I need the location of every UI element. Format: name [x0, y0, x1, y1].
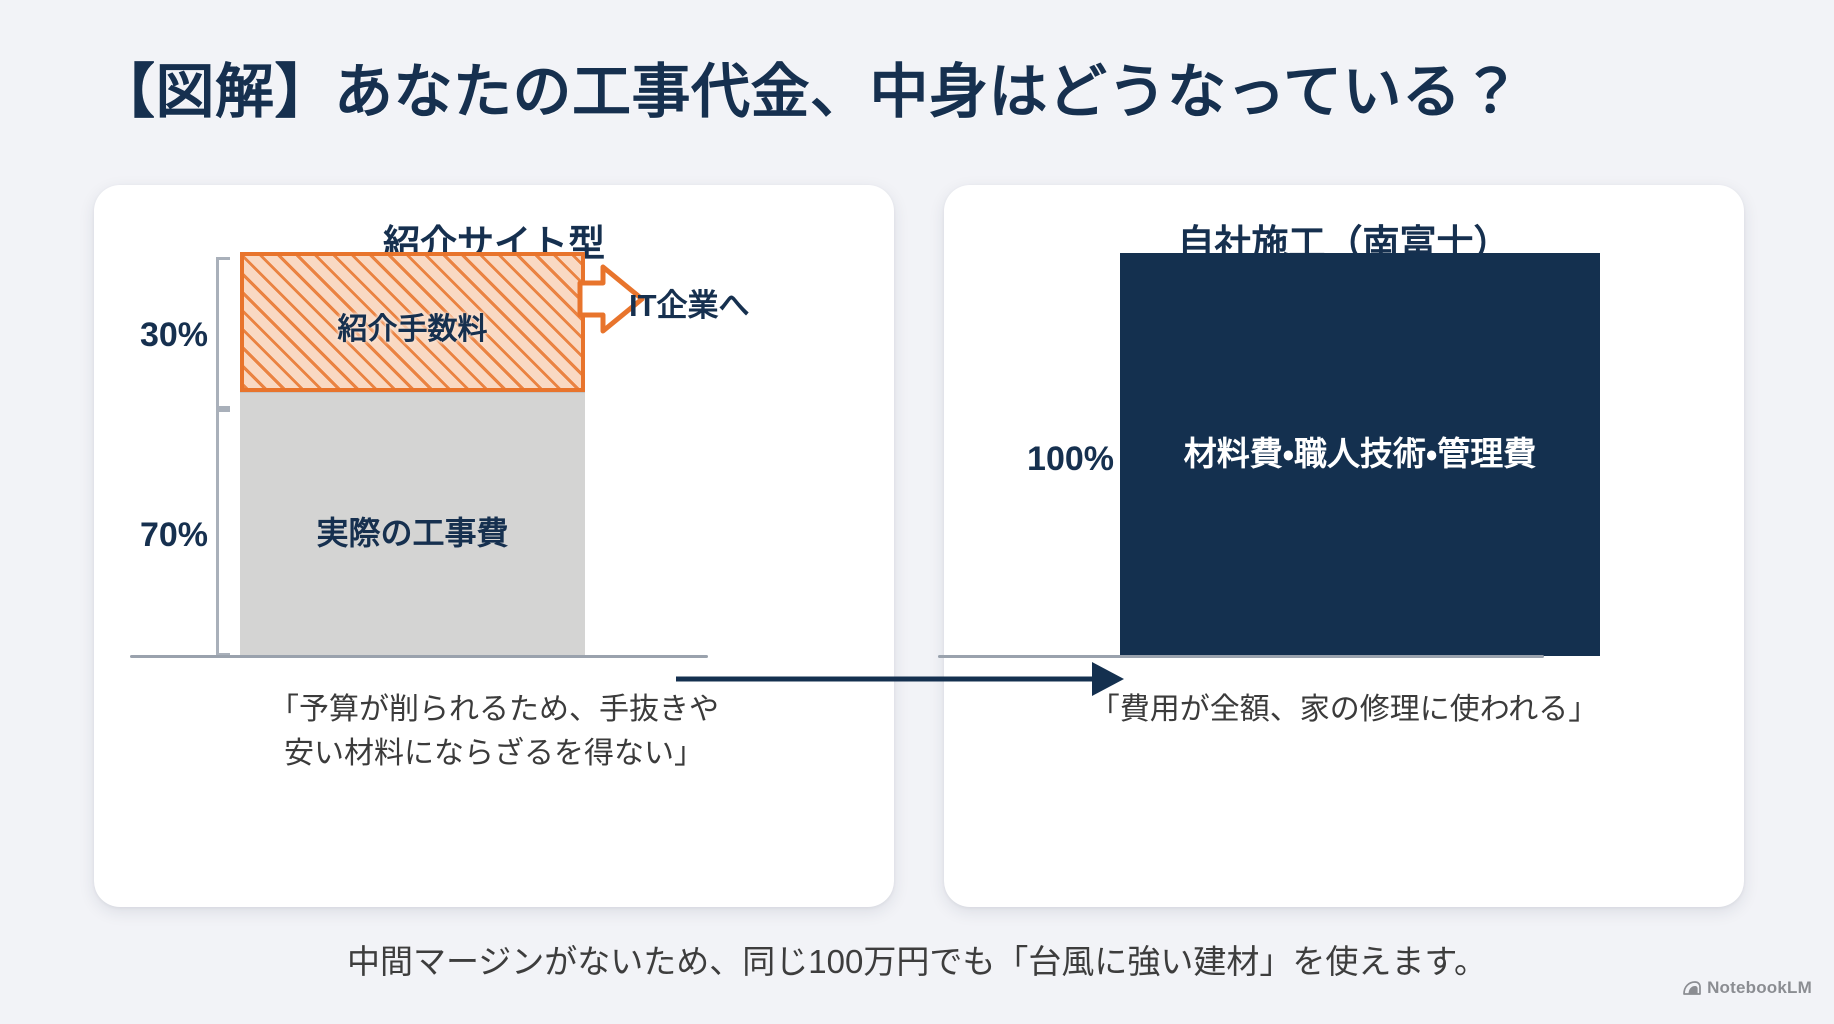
- percent-label-100: 100%: [894, 440, 1114, 479]
- figure-footer-note: 中間マージンがないため、同じ100万円でも「台風に強い建材」を使えます。: [0, 935, 1834, 983]
- comparison-card-in-house: 自社施工（南富士） 100% 材料費・職人技術・管理費 「費用が全額、家の修理に…: [944, 185, 1744, 907]
- bar-segment-referral-fee-label: 紹介手数料: [244, 304, 581, 348]
- chart-baseline-left: [130, 655, 708, 658]
- chart-baseline-right: [938, 655, 1544, 658]
- bracket-30: [216, 257, 230, 409]
- notebooklm-spiral-icon: [1682, 980, 1701, 996]
- percent-label-70: 70%: [128, 516, 208, 555]
- infographic-canvas: 【図解】あなたの工事代金、中身はどうなっている？ 紹介サイト型 30% 70% …: [0, 0, 1834, 1024]
- card-caption-left: 「予算が削られるため、手抜きや 安い材料にならざるを得ない」: [94, 688, 894, 775]
- bar-segment-full-value: 材料費・職人技術・管理費: [1120, 253, 1600, 656]
- card-caption-right: 「費用が全額、家の修理に使われる」: [944, 688, 1744, 732]
- bar-segment-actual-construction-cost-label: 実際の工事費: [240, 508, 585, 554]
- percent-label-30: 30%: [128, 316, 208, 355]
- bar-segment-full-value-label: 材料費・職人技術・管理費: [1120, 427, 1600, 475]
- comparison-card-referral-site: 紹介サイト型 30% 70% 紹介手数料 実際の工事費 IT企業へ 「予算が削ら…: [94, 185, 894, 907]
- page-title: 【図解】あなたの工事代金、中身はどうなっている？: [96, 44, 1521, 129]
- bar-segment-referral-fee: 紹介手数料: [240, 252, 585, 392]
- bracket-70: [216, 409, 230, 656]
- notebooklm-watermark-label: NotebookLM: [1707, 978, 1812, 998]
- it-company-label: IT企業へ: [629, 280, 750, 325]
- notebooklm-watermark: NotebookLM: [1682, 978, 1812, 998]
- bar-segment-actual-construction-cost: 実際の工事費: [240, 392, 585, 658]
